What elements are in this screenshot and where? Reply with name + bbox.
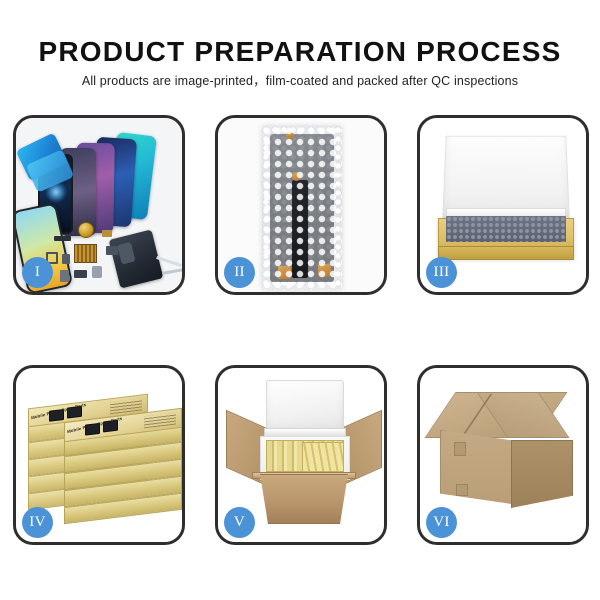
spare-part-b (62, 254, 70, 264)
spare-part-c (102, 230, 112, 237)
step-badge-1: I (22, 257, 53, 288)
gold-coil-part (78, 222, 94, 238)
carton-tape-upper (454, 442, 466, 456)
label-text-lines-back (110, 398, 142, 414)
process-step-2[interactable]: II (215, 115, 387, 295)
process-step-4[interactable]: Mobile Phone Spare Parts Mobile Phone (13, 365, 185, 545)
process-step-5[interactable]: V (215, 365, 387, 545)
label-text-lines-front (144, 412, 176, 428)
carton-tape-lower (456, 484, 468, 496)
carton-right-face (511, 440, 573, 508)
packed-kraft-boxes-2 (302, 442, 344, 472)
process-step-3[interactable]: III (417, 115, 589, 295)
connector-grid-chip (74, 244, 97, 263)
connector-right (318, 264, 331, 277)
step-badge-3: III (426, 257, 457, 288)
flex-cable-strip (292, 180, 308, 278)
kraft-box-front (438, 246, 574, 260)
page-title: PRODUCT PREPARATION PROCESS (0, 36, 600, 68)
infographic-page: PRODUCT PREPARATION PROCESS All products… (0, 0, 600, 600)
page-subtitle: All products are image-printed，film-coat… (0, 70, 600, 89)
spare-part-d (106, 246, 118, 255)
foam-cooler-lid (266, 380, 344, 434)
connector-left (278, 266, 291, 279)
carton-left-face (440, 430, 512, 504)
flex-cable-b (162, 268, 182, 275)
step-badge-2: II (224, 257, 255, 288)
step-badge-5: V (224, 507, 255, 538)
step-badge-6: VI (426, 507, 457, 538)
process-step-6[interactable]: VI (417, 365, 589, 545)
spare-part-a (54, 236, 71, 241)
step-badge-4: IV (22, 507, 53, 538)
logic-board (109, 229, 164, 288)
spare-part-g (92, 266, 102, 278)
connector-top (286, 132, 294, 140)
process-step-grid: I II III (13, 115, 590, 545)
anti-static-foam (446, 216, 566, 242)
spare-part-f (74, 270, 87, 278)
carton-front-panel (254, 474, 354, 524)
connector-mid (292, 172, 301, 181)
spare-part-e (60, 270, 69, 282)
process-step-1[interactable]: I (13, 115, 185, 295)
